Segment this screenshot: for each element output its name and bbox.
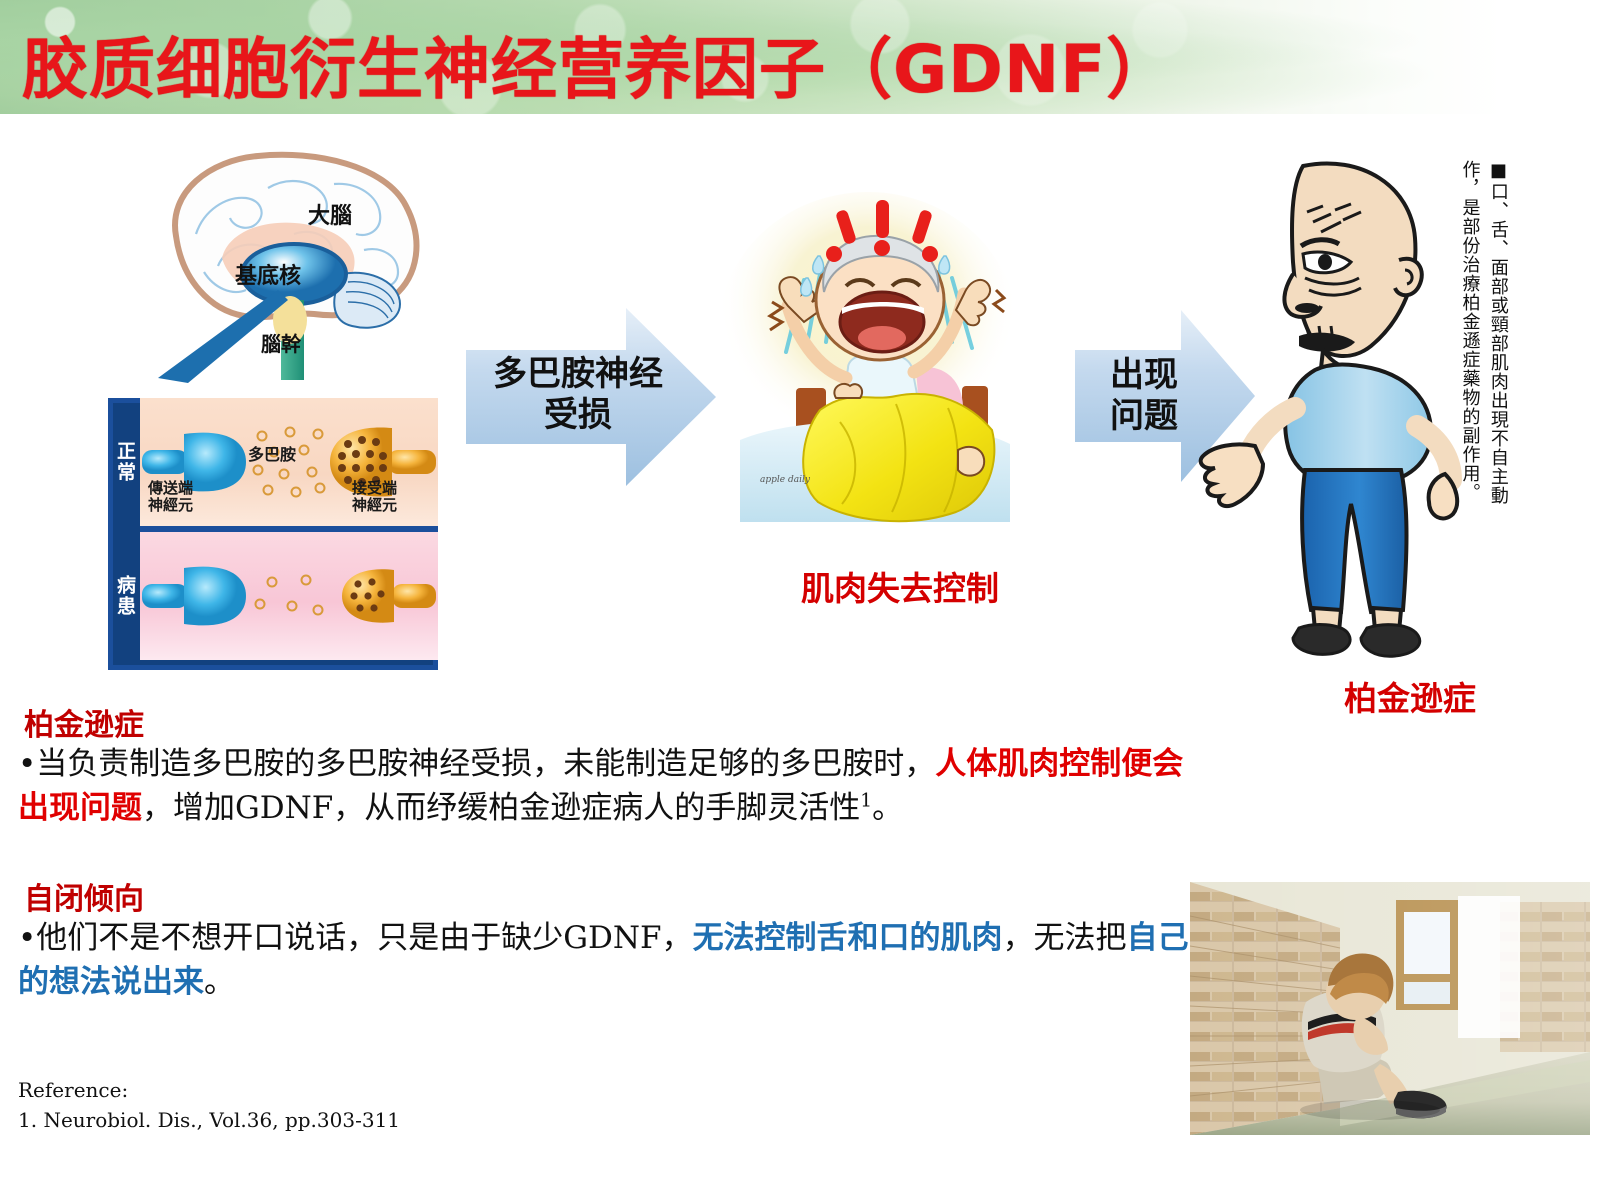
sad-boy-photo	[1190, 882, 1590, 1135]
page-title: 胶质细胞衍生神经营养因子（GDNF）	[22, 16, 1173, 112]
reference-entry: 1. Neurobiol. Dis., Vol.36, pp.303-311	[18, 1105, 400, 1135]
brain-anatomy-illustration: 大腦 基底核 腦幹	[118, 140, 458, 385]
screaming-patient-cartoon: apple daily	[700, 182, 1030, 542]
bullet-parkinson: •	[18, 746, 36, 782]
brain-label-brainstem: 腦幹	[261, 328, 301, 357]
section-paragraph-autism: •他们不是不想开口说话，只是由于缺少GDNF，无法控制舌和口的肌肉，无法把自己的…	[18, 916, 1193, 1004]
side-note-vertical-text: ■口、舌、面部或頸部肌肉出現不自主動作，是部份治療柏金遜症藥物的副作用。	[1455, 160, 1512, 540]
dopamine-synapse-illustration: 正常 病患 傳送端 神經元 多巴胺 接受端 神經元	[108, 398, 438, 670]
para-parkinson-run-2: ，增加GDNF，从而纾缓柏金逊症病人的手脚灵活性	[142, 790, 860, 826]
postsynaptic-line1: 接受端	[352, 479, 397, 497]
bullet-autism: •	[18, 920, 36, 956]
synapse-row-patient	[140, 532, 438, 660]
brain-label-basal-ganglia: 基底核	[235, 258, 301, 290]
section-heading-autism: 自闭倾向	[24, 874, 144, 918]
reference-block: Reference: 1. Neurobiol. Dis., Vol.36, p…	[18, 1075, 400, 1135]
svg-text:apple daily: apple daily	[760, 475, 811, 485]
caption-parkinson-figure: 柏金逊症	[1310, 672, 1510, 720]
para-parkinson-footnote-marker: 1	[860, 791, 872, 812]
title-banner: 胶质细胞衍生神经营养因子（GDNF）	[0, 0, 1600, 114]
postsynaptic-line2: 神經元	[352, 496, 397, 514]
section-heading-parkinson: 柏金逊症	[24, 700, 144, 744]
para-autism-run-0: 他们不是不想开口说话，只是由于缺少GDNF，	[36, 920, 692, 956]
arrow1-line2: 受损	[544, 395, 612, 435]
presynaptic-line1: 傳送端	[148, 479, 193, 497]
para-autism-run-4: 。	[204, 964, 235, 1000]
para-autism-run-2: ，无法把	[1003, 920, 1127, 956]
elderly-parkinson-man-cartoon	[1195, 150, 1465, 670]
reference-label: Reference:	[18, 1075, 400, 1105]
arrow-problems-appear-label: 出现 问题	[1085, 355, 1203, 438]
synapse-label-dopamine: 多巴胺	[248, 446, 296, 464]
para-parkinson-run-0: 当负责制造多巴胺的多巴胺神经受损，未能制造足够的多巴胺时，	[36, 746, 935, 782]
para-parkinson-run-4: 。	[872, 790, 903, 826]
arrow1-line1: 多巴胺神经	[493, 354, 663, 394]
synapse-label-presynaptic: 傳送端 神經元	[148, 480, 193, 513]
arrow-dopamine-damage-label: 多巴胺神经 受损	[478, 354, 678, 437]
arrow2-line1: 出现	[1110, 355, 1178, 395]
synapse-label-postsynaptic: 接受端 神經元	[352, 480, 397, 513]
arrow2-line2: 问题	[1110, 396, 1178, 436]
synapse-side-label-patient: 病患	[108, 532, 140, 660]
section-paragraph-parkinson: •当负责制造多巴胺的多巴胺神经受损，未能制造足够的多巴胺时，人体肌肉控制便会出现…	[18, 742, 1198, 830]
brain-label-cerebrum: 大腦	[308, 198, 352, 230]
presynaptic-line2: 神經元	[148, 496, 193, 514]
para-autism-run-1: 无法控制舌和口的肌肉	[693, 920, 1003, 956]
synapse-side-label-normal: 正常	[108, 398, 140, 526]
caption-muscle-loss: 肌肉失去控制	[785, 562, 1015, 610]
slide-canvas: 胶质细胞衍生神经营养因子（GDNF）	[0, 0, 1600, 1200]
